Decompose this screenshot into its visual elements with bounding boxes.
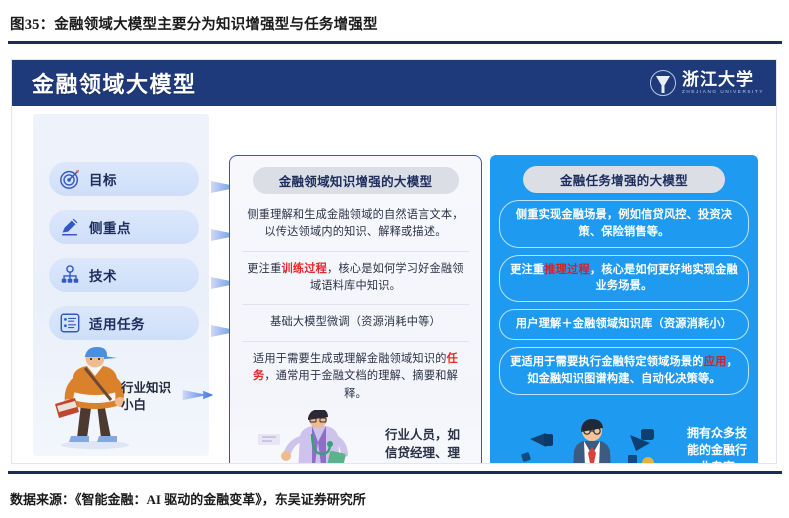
pencil-icon [59,216,81,238]
professional-label: 行业人员，如信贷经理、理财专家、保险销售等 [385,426,469,464]
infographic-card: 金融领域大模型 浙江大学 ZHEJIANG UNIVERSITY [11,59,777,464]
logo-name-en: ZHEJIANG UNIVERSITY [682,90,764,95]
expert-persona: 拥有众多技能的金融行业专家 [490,417,758,464]
knowledge-row: 基础大模型微调（资源消耗中等） [242,304,469,340]
network-icon [59,264,81,286]
task-panel-rows: 侧重实现金融场景，例如信贷风控、投资决策、保险销售等。 更注重推理过程，核心是如… [490,193,758,395]
checklist-icon [59,312,81,334]
university-logo: 浙江大学 ZHEJIANG UNIVERSITY [650,70,764,96]
category-label: 技术 [89,265,117,285]
knowledge-enhanced-panel: 金融领域知识增强的大模型 侧重理解和生成金融领域的自然语言文本，以传达领域内的知… [229,155,482,464]
logo-name-cn: 浙江大学 [682,71,764,88]
figure-caption: 图35：金融领域大模型主要分为知识增强型与任务增强型 [10,8,780,38]
target-icon [59,168,81,190]
multi-arm-expert-illustration [504,417,679,464]
card-header: 金融领域大模型 浙江大学 ZHEJIANG UNIVERSITY [12,60,777,106]
task-row: 侧重实现金融场景，例如信贷风控、投资决策、保险销售等。 [499,200,749,248]
task-panel-title: 金融任务增强的大模型 [523,166,725,193]
card-body: 目标 侧重点 [12,106,777,464]
card-title: 金融领域大模型 [32,67,197,99]
university-seal-icon [650,70,676,96]
expert-label: 拥有众多技能的金融行业专家 [686,425,748,464]
novice-label: 行业知识小白 [121,380,171,414]
novice-persona: 行业知识小白 [41,346,209,450]
knowledge-panel-title: 金融领域知识增强的大模型 [253,167,459,194]
caption-rule-top [8,41,782,44]
category-label: 适用任务 [89,313,145,333]
arrow-right-icon [181,386,215,409]
task-row: 更注重推理过程，核心是如何更好地实现金融业务场景。 [499,255,749,303]
knowledge-panel-rows: 侧重理解和生成金融领域的自然语言文本，以传达领域内的知识、解释或描述。 更注重训… [230,194,481,412]
category-pill-tech[interactable]: 技术 [49,258,199,292]
knowledge-row: 适用于需要生成或理解金融领域知识的任务，通常用于金融文档的理解、摘要和解释。 [242,341,469,412]
source-rule-bottom [8,471,782,474]
left-category-panel: 目标 侧重点 [33,114,209,456]
category-pill-goal[interactable]: 目标 [49,162,199,196]
task-enhanced-panel: 金融任务增强的大模型 侧重实现金融场景，例如信贷风控、投资决策、保险销售等。 更… [490,155,758,464]
category-pill-list: 目标 侧重点 [49,162,199,340]
category-label: 目标 [89,169,117,189]
professional-persona: 行业人员，如信贷经理、理财专家、保险销售等 [230,410,482,464]
professional-illustration [256,410,386,464]
task-row: 用户理解＋金融领域知识库（资源消耗小） [499,309,749,340]
knowledge-row: 侧重理解和生成金融领域的自然语言文本，以传达领域内的知识、解释或描述。 [242,198,469,251]
knowledge-row: 更注重训练过程，核心是如何学习好金融领域语料库中知识。 [242,251,469,305]
figure-source: 数据来源：《智能金融：AI 驱动的金融变革》，东吴证券研究所 [10,486,780,510]
figure-page: 图35：金融领域大模型主要分为知识增强型与任务增强型 金融领域大模型 浙江大学 … [0,0,789,518]
category-pill-tasks[interactable]: 适用任务 [49,306,199,340]
task-row: 更适用于需要执行金融特定领域场景的应用，如金融知识图谱构建、自动化决策等。 [499,347,749,395]
category-label: 侧重点 [89,217,131,237]
category-pill-focus[interactable]: 侧重点 [49,210,199,244]
